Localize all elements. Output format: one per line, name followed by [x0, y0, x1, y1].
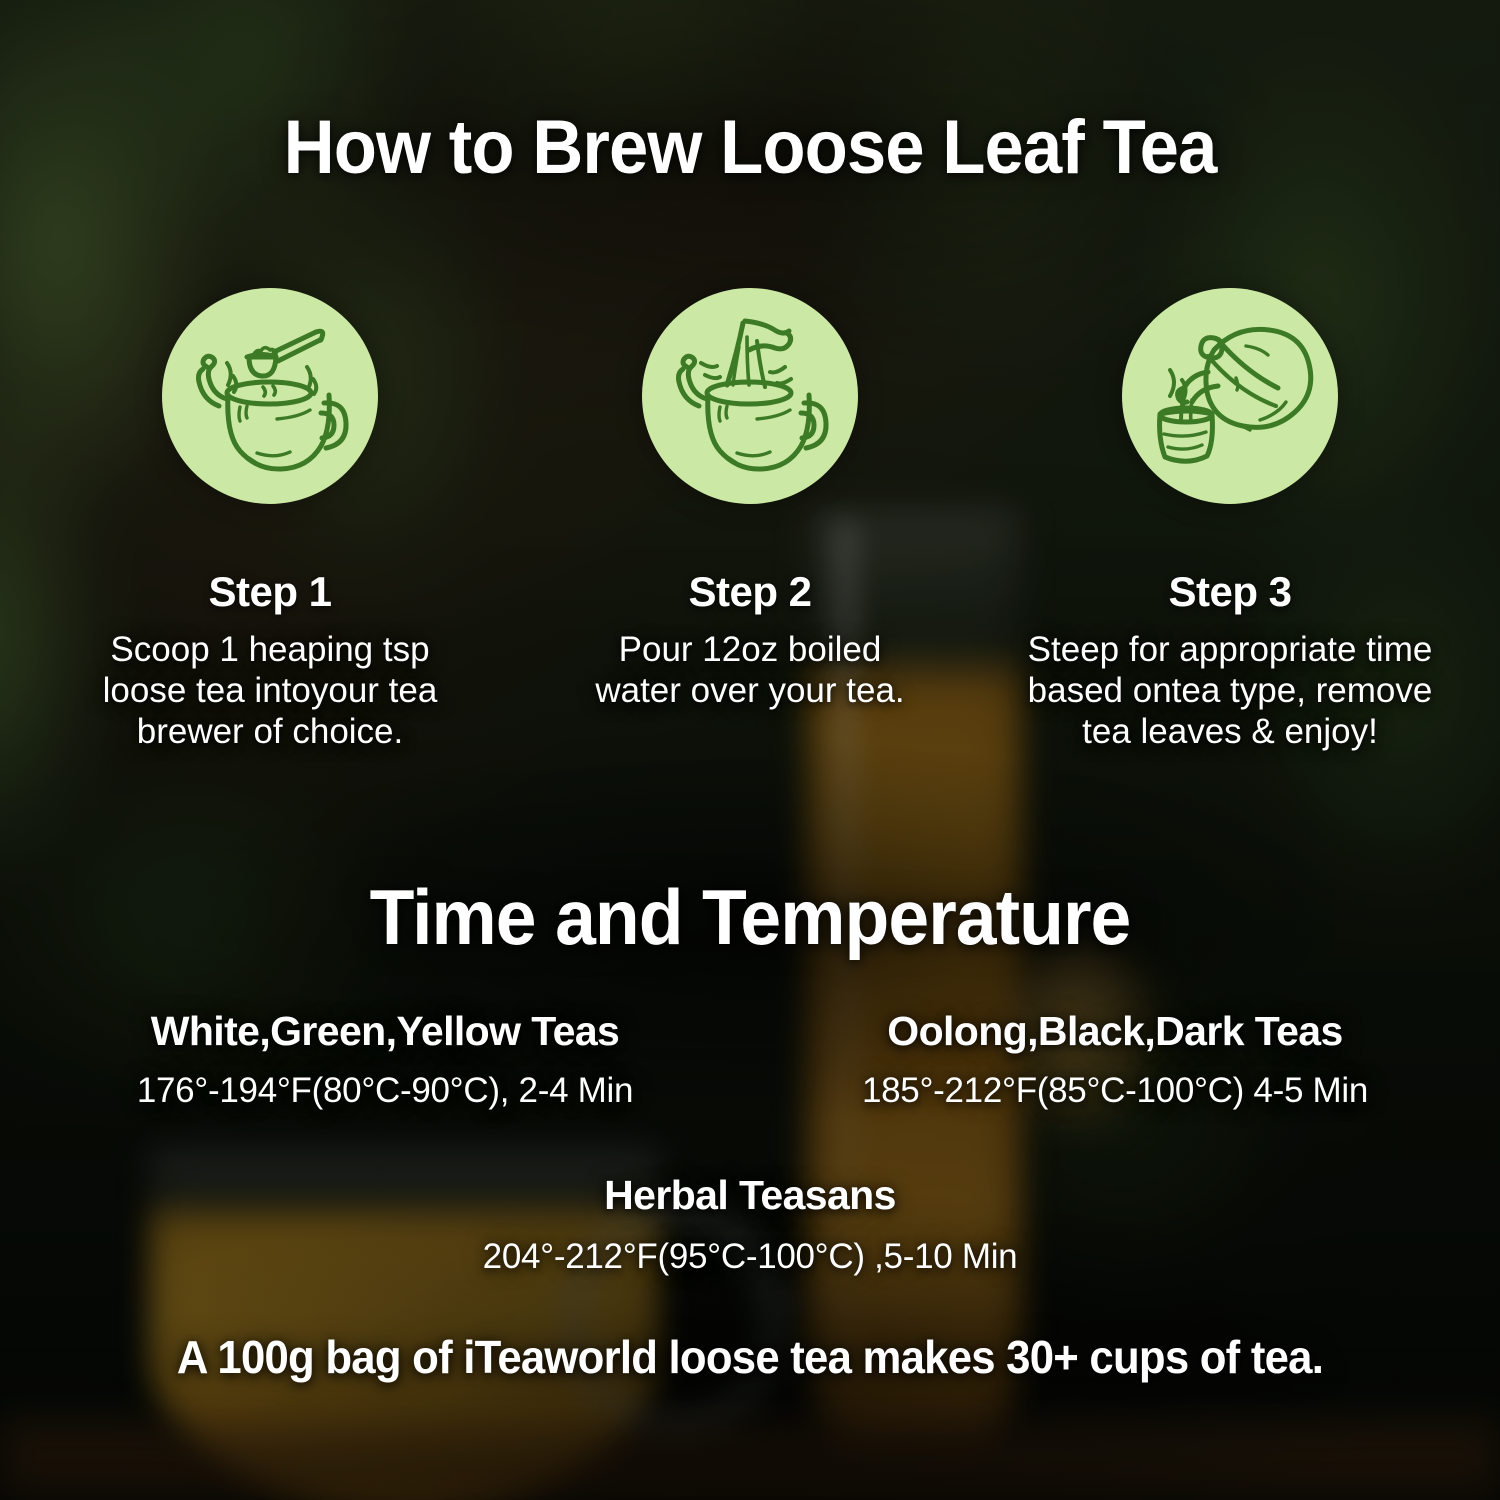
temperature-heading: White,Green,Yellow Teas [40, 1008, 730, 1055]
step-1-label: Step 1 [208, 568, 331, 616]
section-title-time-and-temperature: Time and Temperature [45, 872, 1455, 963]
step-3-description: Steep for appropriate time based ontea t… [1025, 630, 1435, 753]
temperature-col-white-green-yellow: White,Green,Yellow Teas 176°-194°F(80°C-… [40, 1008, 730, 1111]
temperature-heading: Herbal Teasans [0, 1172, 1500, 1219]
temperature-grid: White,Green,Yellow Teas 176°-194°F(80°C-… [40, 1008, 1460, 1111]
brewing-steps-row: Step 1 Scoop 1 heaping tsp loose tea int… [60, 288, 1440, 753]
page-title: How to Brew Loose Leaf Tea [53, 104, 1448, 191]
infographic-content: How to Brew Loose Leaf Tea [0, 0, 1500, 1500]
infographic-page: How to Brew Loose Leaf Tea [0, 0, 1500, 1500]
temperature-value: 176°-194°F(80°C-90°C), 2-4 Min [40, 1071, 730, 1111]
temperature-heading: Oolong,Black,Dark Teas [770, 1008, 1460, 1055]
step-2: Step 2 Pour 12oz boiled water over your … [540, 288, 960, 712]
temperature-col-herbal-teasans: Herbal Teasans 204°-212°F(95°C-100°C) ,5… [0, 1172, 1500, 1277]
step-1-description: Scoop 1 heaping tsp loose tea intoyour t… [90, 630, 450, 753]
teapot-pouring-into-cup-icon [1122, 288, 1338, 504]
temperature-value: 185°-212°F(85°C-100°C) 4-5 Min [770, 1071, 1460, 1111]
teapot-pouring-water-in-icon [642, 288, 858, 504]
tagline: A 100g bag of iTeaworld loose tea makes … [38, 1330, 1463, 1384]
step-3-label: Step 3 [1168, 568, 1291, 616]
step-1: Step 1 Scoop 1 heaping tsp loose tea int… [60, 288, 480, 753]
step-2-label: Step 2 [688, 568, 811, 616]
step-2-description: Pour 12oz boiled water over your tea. [585, 630, 915, 712]
teapot-with-scoop-icon [162, 288, 378, 504]
step-3: Step 3 Steep for appropriate time based … [1020, 288, 1440, 753]
temperature-value: 204°-212°F(95°C-100°C) ,5-10 Min [0, 1237, 1500, 1277]
temperature-col-oolong-black-dark: Oolong,Black,Dark Teas 185°-212°F(85°C-1… [770, 1008, 1460, 1111]
